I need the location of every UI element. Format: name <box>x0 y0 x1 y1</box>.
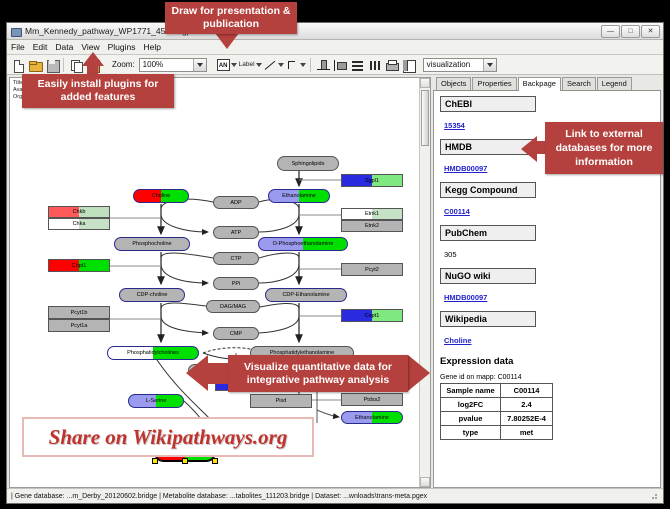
gene-label: Cept1 <box>365 313 380 319</box>
callout-draw-arrow-icon <box>215 33 239 49</box>
callout-visualize: Visualize quantitative data for integrat… <box>228 355 408 392</box>
label-tool-label: Label <box>239 61 255 68</box>
metabolite-label: Phosphocholine <box>132 241 171 247</box>
menu-item-edit[interactable]: Edit <box>33 42 48 52</box>
metabolite-label: CDP-choline <box>137 292 168 298</box>
chevron-down-icon[interactable] <box>231 63 237 67</box>
selection-handle[interactable] <box>152 458 158 464</box>
expression-value: C00114 <box>501 384 553 398</box>
line-tool[interactable] <box>264 59 284 71</box>
metabolite-node-ethanolamine-bottom[interactable]: Ethanolamine <box>341 411 403 424</box>
toolbar-separator <box>310 58 311 72</box>
gene-node-cept1[interactable]: Cept1 <box>341 309 403 322</box>
tab-properties[interactable]: Properties <box>472 77 516 90</box>
database-header-kegg: Kegg Compound <box>440 182 536 198</box>
visualization-value: visualization <box>424 60 471 69</box>
metabolite-node-ethanolamine-top[interactable]: Ethanolamine <box>268 189 330 203</box>
expression-table: Sample nameC00114log2FC2.4pvalue7.80252E… <box>440 383 553 440</box>
metabolite-node-l-serine-left[interactable]: L-Serine <box>128 394 184 408</box>
line-icon <box>264 59 277 71</box>
expression-row: Sample nameC00114 <box>441 384 553 398</box>
connector-tool[interactable] <box>286 59 306 71</box>
metabolite-label: L-Serine <box>146 398 167 404</box>
gene-node-pcyt1b[interactable]: Pcyt1b <box>48 306 110 319</box>
expression-key: pvalue <box>441 412 501 426</box>
resize-grip-icon[interactable] <box>649 491 659 501</box>
print-icon[interactable] <box>383 57 398 72</box>
maximize-icon: □ <box>622 28 639 36</box>
database-header-nugo: NuGO wiki <box>440 268 536 284</box>
stack-rows-icon[interactable] <box>349 58 364 71</box>
gene-node-etnk2[interactable]: Etnk2 <box>341 220 403 232</box>
metabolite-label: ATP <box>231 230 241 236</box>
menu-bar: File Edit Data View Plugins Help <box>7 40 663 55</box>
menu-item-file[interactable]: File <box>11 42 25 52</box>
tab-backpage[interactable]: Backpage <box>518 77 561 91</box>
toggle-sidebar-icon[interactable] <box>400 58 415 71</box>
callout-plugins: Easily install plugins for added feature… <box>22 74 174 108</box>
expression-row: log2FC2.4 <box>441 398 553 412</box>
chevron-down-icon[interactable] <box>483 59 496 71</box>
expression-key: Sample name <box>441 384 501 398</box>
metabolite-label: O-Phosphoethanolamine <box>273 241 334 247</box>
status-bar: | Gene database: ...m_Derby_20120602.bri… <box>7 488 663 503</box>
database-link-hmdb[interactable]: HMDB00097 <box>444 164 487 173</box>
metabolite-node-atp[interactable]: ATP <box>213 226 259 239</box>
distribute-columns-icon[interactable] <box>366 58 381 71</box>
gene-node-chka[interactable]: Chka <box>48 218 110 230</box>
title-bar: Mm_Kennedy_pathway_WP1771_45176.gpml — □… <box>7 23 663 40</box>
menu-item-plugins[interactable]: Plugins <box>108 42 136 52</box>
metabolite-label: CMP <box>230 331 242 337</box>
menu-item-data[interactable]: Data <box>55 42 73 52</box>
metabolite-node-ppi[interactable]: PPi <box>213 277 259 290</box>
database-link-nugo[interactable]: HMDB00097 <box>444 293 487 302</box>
gene-label: Pcyt1a <box>71 323 88 329</box>
maximize-button[interactable]: □ <box>621 25 640 38</box>
app-icon <box>10 26 21 37</box>
minimize-icon: — <box>602 28 619 36</box>
metabolite-label: Choline <box>152 193 171 199</box>
expression-value: 7.80252E-4 <box>501 412 553 426</box>
gene-label: Chpt1 <box>72 263 87 269</box>
gene-label: Etnk1 <box>365 211 379 217</box>
gene-label: Chka <box>73 221 86 227</box>
expression-key: type <box>441 426 501 440</box>
database-header-wikipedia: Wikipedia <box>440 311 536 327</box>
visualization-combobox[interactable]: visualization <box>423 58 497 72</box>
callout-share: Share on Wikipathways.org <box>22 417 314 457</box>
metabolite-node-adp[interactable]: ADP <box>213 196 259 209</box>
gene-node-chkb[interactable]: Chkb <box>48 206 110 218</box>
expression-data-heading: Expression data <box>440 356 654 367</box>
close-icon: ✕ <box>642 28 659 36</box>
chevron-down-icon[interactable] <box>278 63 284 67</box>
database-header-pubchem: PubChem <box>440 225 536 241</box>
metabolite-node-dag-mag[interactable]: DAG/MAG <box>206 300 260 313</box>
metabolite-node-choline-top[interactable]: Choline <box>133 189 189 203</box>
align-left-icon[interactable] <box>332 58 347 71</box>
chevron-down-icon[interactable] <box>300 63 306 67</box>
scroll-down-icon[interactable] <box>420 477 430 487</box>
metabolite-label: DAG/MAG <box>220 304 246 310</box>
menu-item-view[interactable]: View <box>81 42 99 52</box>
expression-value: 2.4 <box>501 398 553 412</box>
gene-label: Etnk2 <box>365 223 379 229</box>
scroll-up-icon[interactable] <box>420 78 430 88</box>
gene-label: Chkb <box>73 209 86 215</box>
label-tool[interactable]: Label <box>239 61 262 68</box>
gene-label: Pcyt1b <box>71 310 88 316</box>
elbow-connector-icon <box>286 59 299 71</box>
side-panel-tabs: Objects Properties Backpage Search Legen… <box>433 77 661 91</box>
metabolite-node-o-phosphoethanolamine[interactable]: O-Phosphoethanolamine <box>258 237 348 251</box>
callout-draw: Draw for presentation & publication <box>165 2 297 34</box>
metabolite-label: Ethanolamine <box>282 193 316 199</box>
toolbar-separator <box>63 58 64 72</box>
gene-node-pisd[interactable]: Pisd <box>250 394 312 408</box>
tab-legend[interactable]: Legend <box>597 77 632 90</box>
chevron-down-icon[interactable] <box>193 59 206 71</box>
scrollbar-thumb[interactable] <box>421 90 429 146</box>
close-button[interactable]: ✕ <box>641 25 660 38</box>
metabolite-node-cmp[interactable]: CMP <box>213 327 259 340</box>
datanode-tool[interactable]: AN <box>217 59 237 71</box>
gene-node-pcyt2[interactable]: Pcyt2 <box>341 263 403 276</box>
expression-row: typemet <box>441 426 553 440</box>
status-text: | Gene database: ...m_Derby_20120602.bri… <box>11 493 427 500</box>
zoom-combobox[interactable]: 100% <box>139 58 207 72</box>
save-icon[interactable] <box>44 57 59 72</box>
database-link-kegg[interactable]: C00114 <box>444 207 470 216</box>
gene-label: Sgpl1 <box>365 178 379 184</box>
metabolite-node-ctp[interactable]: CTP <box>213 252 259 265</box>
expression-key: log2FC <box>441 398 501 412</box>
menu-item-help[interactable]: Help <box>144 42 161 52</box>
gene-label: Pisd <box>276 398 287 404</box>
callout-links: Link to external databases for more info… <box>545 122 663 174</box>
database-link-wikipedia[interactable]: Choline <box>444 336 472 345</box>
metabolite-node-phosphocholine[interactable]: Phosphocholine <box>114 237 190 251</box>
metabolite-node-sphingolipids[interactable]: Sphingolipids <box>277 156 339 171</box>
database-link-chebi[interactable]: 15354 <box>444 121 465 130</box>
metabolite-label: ADP <box>230 200 241 206</box>
open-folder-icon[interactable] <box>27 57 42 72</box>
gene-node-pcyt1a[interactable]: Pcyt1a <box>48 319 110 332</box>
tab-objects[interactable]: Objects <box>436 77 471 90</box>
new-file-icon[interactable] <box>10 57 25 72</box>
callout-share-text: Share on Wikipathways.org <box>49 425 288 450</box>
expression-value: met <box>501 426 553 440</box>
gene-node-chpt1[interactable]: Chpt1 <box>48 259 110 272</box>
metabolite-label: CDP-Ethanolamine <box>282 292 329 298</box>
zoom-label: Zoom: <box>112 60 135 69</box>
expression-row: pvalue7.80252E-4 <box>441 412 553 426</box>
copy-icon[interactable] <box>68 57 83 72</box>
metabolite-label: Ethanolamine <box>355 415 389 421</box>
gene-node-etnk1[interactable]: Etnk1 <box>341 208 403 220</box>
align-bottom-icon[interactable] <box>315 58 330 71</box>
gene-label: Pcyt2 <box>365 267 379 273</box>
chevron-down-icon[interactable] <box>256 63 262 67</box>
metabolite-label: CTP <box>231 256 242 262</box>
gene-node-sgpl1[interactable]: Sgpl1 <box>341 174 403 187</box>
selection-handle[interactable] <box>212 458 218 464</box>
datanode-icon: AN <box>217 59 230 71</box>
canvas-vertical-scrollbar[interactable] <box>419 78 430 487</box>
metabolite-label: Sphingolipids <box>292 161 325 167</box>
metabolite-label: PPi <box>232 281 241 287</box>
gene-node-ptdss2[interactable]: Ptdss2 <box>341 393 403 406</box>
toolbar: Zoom: 100% AN Label visualization <box>7 55 663 75</box>
selection-handle[interactable] <box>182 458 188 464</box>
metabolite-node-cdp-choline[interactable]: CDP-choline <box>119 288 185 302</box>
gene-id-line: Gene id on mapp: C00114 <box>440 374 654 381</box>
minimize-button[interactable]: — <box>601 25 620 38</box>
metabolite-node-cdp-ethanolamine[interactable]: CDP-Ethanolamine <box>265 288 347 302</box>
tab-search[interactable]: Search <box>562 77 596 90</box>
database-header-chebi: ChEBI <box>440 96 536 112</box>
gene-label: Ptdss2 <box>364 397 381 403</box>
metabolite-label: Phosphatidylcholines <box>127 350 179 356</box>
zoom-value: 100% <box>140 60 163 69</box>
database-value-pubchem: 305 <box>444 250 457 259</box>
